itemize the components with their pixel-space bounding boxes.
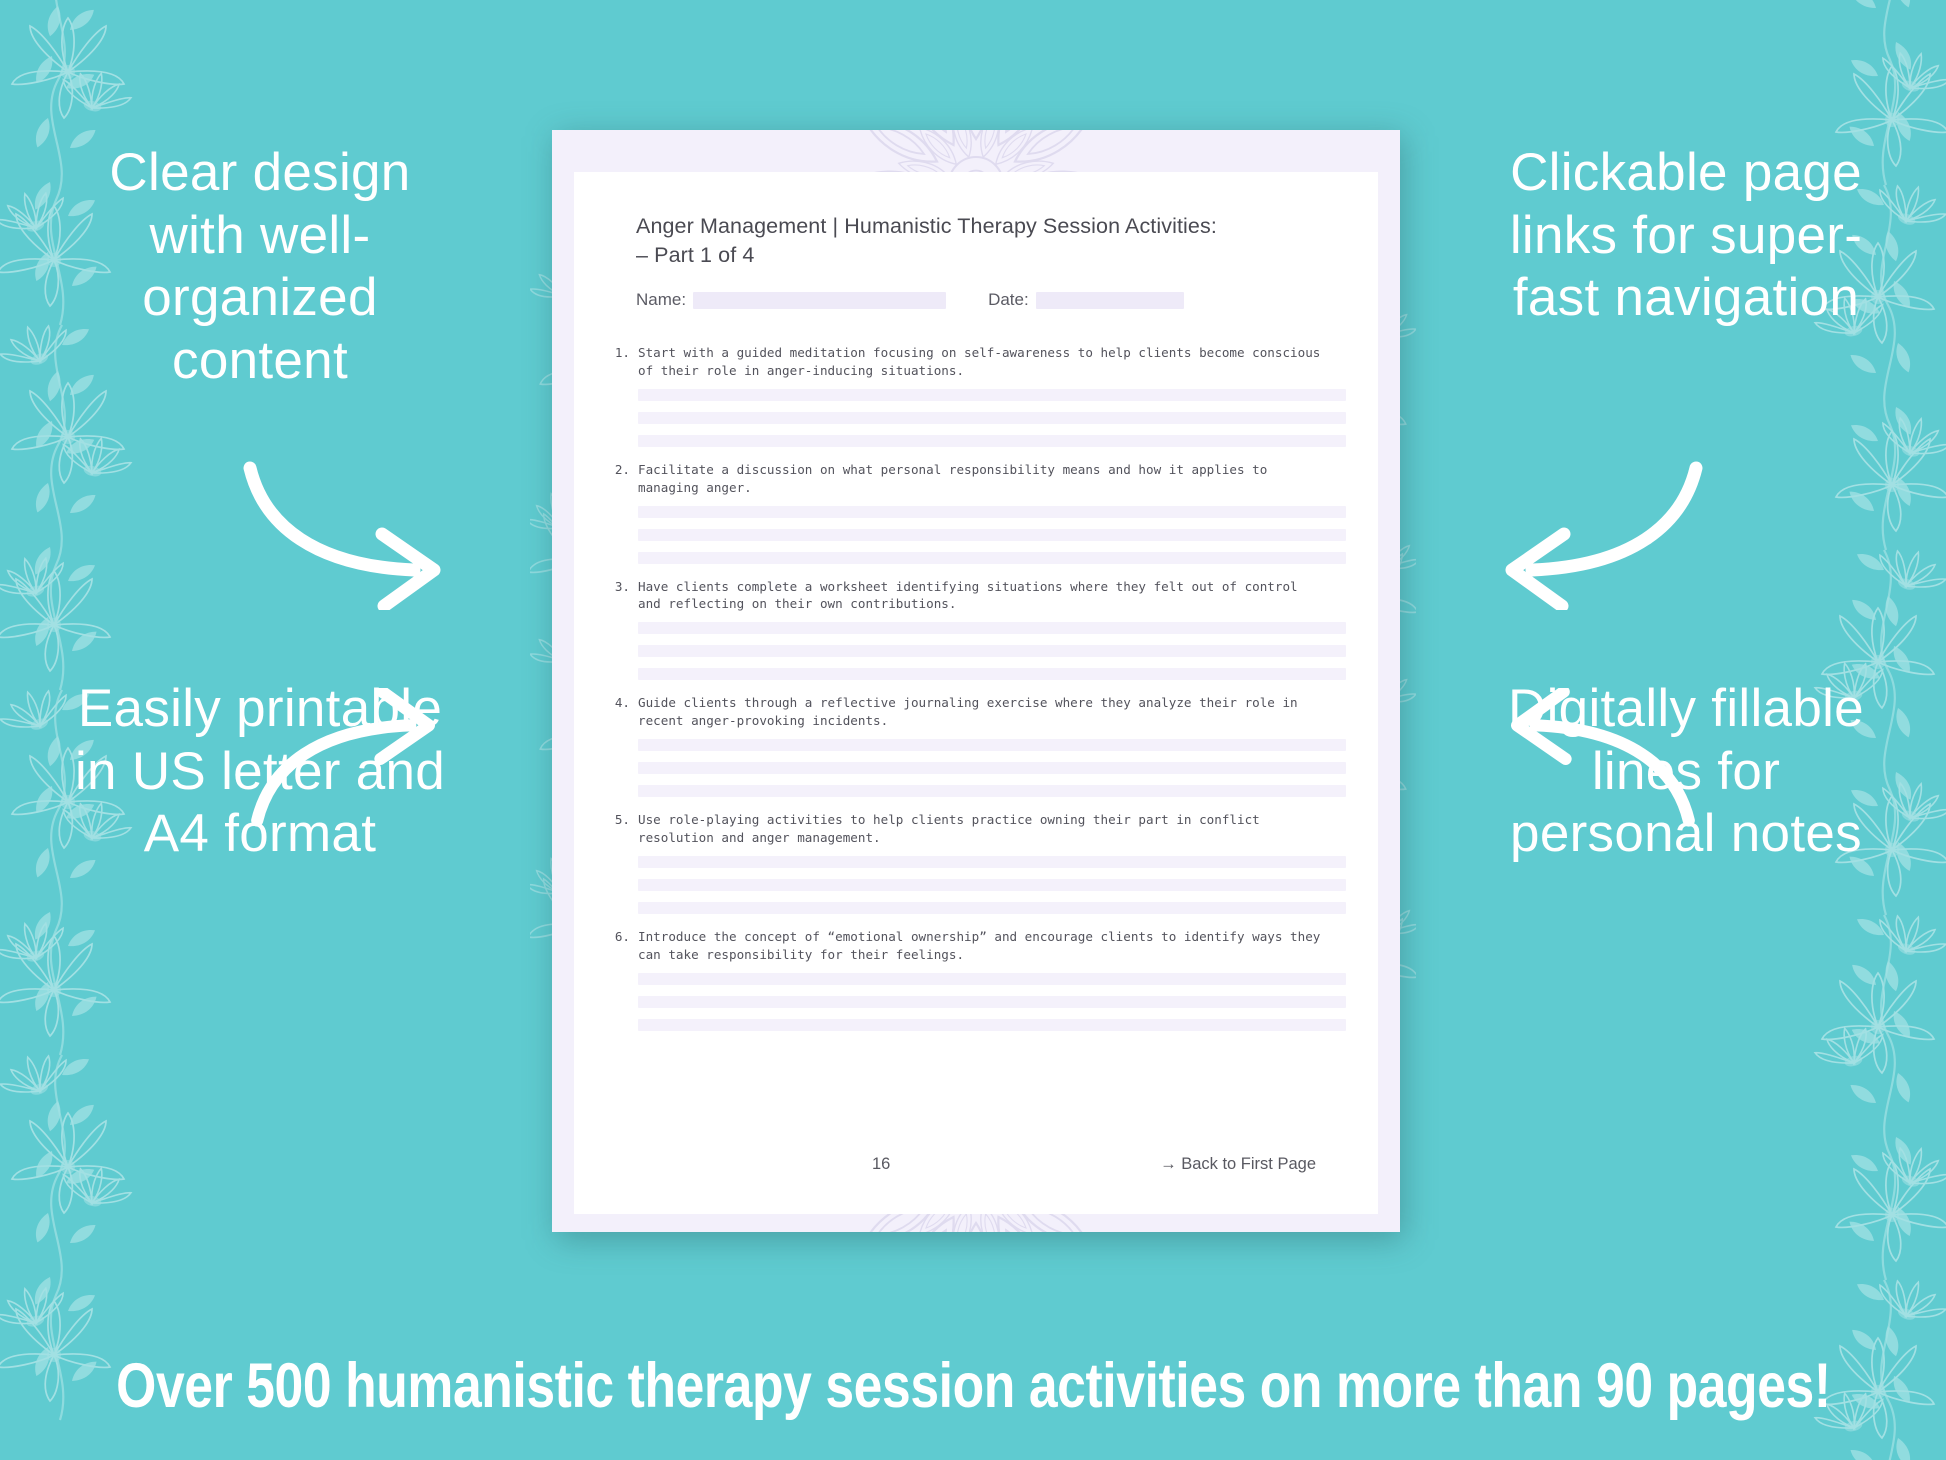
document-footer: 16 → Back to First Page <box>636 1155 1316 1174</box>
fillable-lines-group <box>638 622 1346 680</box>
activity-item-text: Facilitate a discussion on what personal… <box>638 461 1346 497</box>
fillable-line[interactable] <box>638 739 1346 751</box>
fillable-line[interactable] <box>638 552 1346 564</box>
bottom-banner: Over 500 humanistic therapy session acti… <box>0 1312 1946 1460</box>
fillable-line[interactable] <box>638 996 1346 1008</box>
activity-item-text: Have clients complete a worksheet identi… <box>638 578 1346 614</box>
fillable-line[interactable] <box>638 879 1346 891</box>
activity-item-number: 1. <box>610 344 638 447</box>
fillable-lines-group <box>638 506 1346 564</box>
fillable-lines-group <box>638 856 1346 914</box>
fillable-line[interactable] <box>638 506 1346 518</box>
activity-item-body: Guide clients through a reflective journ… <box>638 694 1346 797</box>
fillable-line[interactable] <box>638 389 1346 401</box>
activity-item-number: 4. <box>610 694 638 797</box>
page-number: 16 <box>872 1155 890 1174</box>
page-content-area: Anger Management | Humanistic Therapy Se… <box>574 172 1378 1214</box>
curved-arrow-down-left-icon <box>1468 460 1708 610</box>
activity-item: 5.Use role-playing activities to help cl… <box>610 811 1346 914</box>
fillable-lines-group <box>638 389 1346 447</box>
activity-item-number: 5. <box>610 811 638 914</box>
activity-item-body: Have clients complete a worksheet identi… <box>638 578 1346 681</box>
document-title: Anger Management | Humanistic Therapy Se… <box>636 212 1286 241</box>
fillable-line[interactable] <box>638 902 1346 914</box>
activity-item-text: Use role-playing activities to help clie… <box>638 811 1346 847</box>
activity-item-body: Start with a guided meditation focusing … <box>638 344 1346 447</box>
date-input[interactable] <box>1036 292 1184 309</box>
promo-text-easily-printable: Easily printable in US letter and A4 for… <box>60 678 460 866</box>
fillable-line[interactable] <box>638 412 1346 424</box>
banner-headline: Over 500 humanistic therapy session acti… <box>116 1350 1830 1422</box>
activity-item-text: Introduce the concept of “emotional owne… <box>638 928 1346 964</box>
fillable-lines-group <box>638 973 1346 1031</box>
fillable-line[interactable] <box>638 668 1346 680</box>
fillable-line[interactable] <box>638 645 1346 657</box>
activity-item-text: Start with a guided meditation focusing … <box>638 344 1346 380</box>
activity-item-number: 3. <box>610 578 638 681</box>
name-date-row: Name: Date: <box>636 290 1296 310</box>
promo-text-clickable-links: Clickable page links for super-fast navi… <box>1486 142 1886 330</box>
document-subtitle: – Part 1 of 4 <box>636 243 754 268</box>
name-input[interactable] <box>693 292 946 309</box>
name-label: Name: <box>636 290 686 310</box>
fillable-line[interactable] <box>638 785 1346 797</box>
fillable-line[interactable] <box>638 856 1346 868</box>
activity-item: 4.Guide clients through a reflective jou… <box>610 694 1346 797</box>
activity-item-number: 6. <box>610 928 638 1031</box>
activity-item-number: 2. <box>610 461 638 564</box>
activity-item: 3.Have clients complete a worksheet iden… <box>610 578 1346 681</box>
activity-item: 2.Facilitate a discussion on what person… <box>610 461 1346 564</box>
activity-item-body: Facilitate a discussion on what personal… <box>638 461 1346 564</box>
activity-list: 1.Start with a guided meditation focusin… <box>610 344 1346 1045</box>
fillable-lines-group <box>638 739 1346 797</box>
promo-text-fillable-lines: Digitally fillable lines for personal no… <box>1486 678 1886 866</box>
fillable-line[interactable] <box>638 529 1346 541</box>
date-label: Date: <box>988 290 1029 310</box>
activity-item: 6.Introduce the concept of “emotional ow… <box>610 928 1346 1031</box>
activity-item-text: Guide clients through a reflective journ… <box>638 694 1346 730</box>
fillable-line[interactable] <box>638 973 1346 985</box>
activity-item-body: Use role-playing activities to help clie… <box>638 811 1346 914</box>
fillable-line[interactable] <box>638 622 1346 634</box>
fillable-line[interactable] <box>638 435 1346 447</box>
fillable-line[interactable] <box>638 762 1346 774</box>
back-to-first-page-link[interactable]: → Back to First Page <box>1160 1155 1316 1174</box>
worksheet-page: Anger Management | Humanistic Therapy Se… <box>552 130 1400 1232</box>
activity-item: 1.Start with a guided meditation focusin… <box>610 344 1346 447</box>
promo-text-clear-design: Clear design with well-organized content <box>60 142 460 392</box>
curved-arrow-down-right-icon <box>238 460 478 610</box>
fillable-line[interactable] <box>638 1019 1346 1031</box>
activity-item-body: Introduce the concept of “emotional owne… <box>638 928 1346 1031</box>
